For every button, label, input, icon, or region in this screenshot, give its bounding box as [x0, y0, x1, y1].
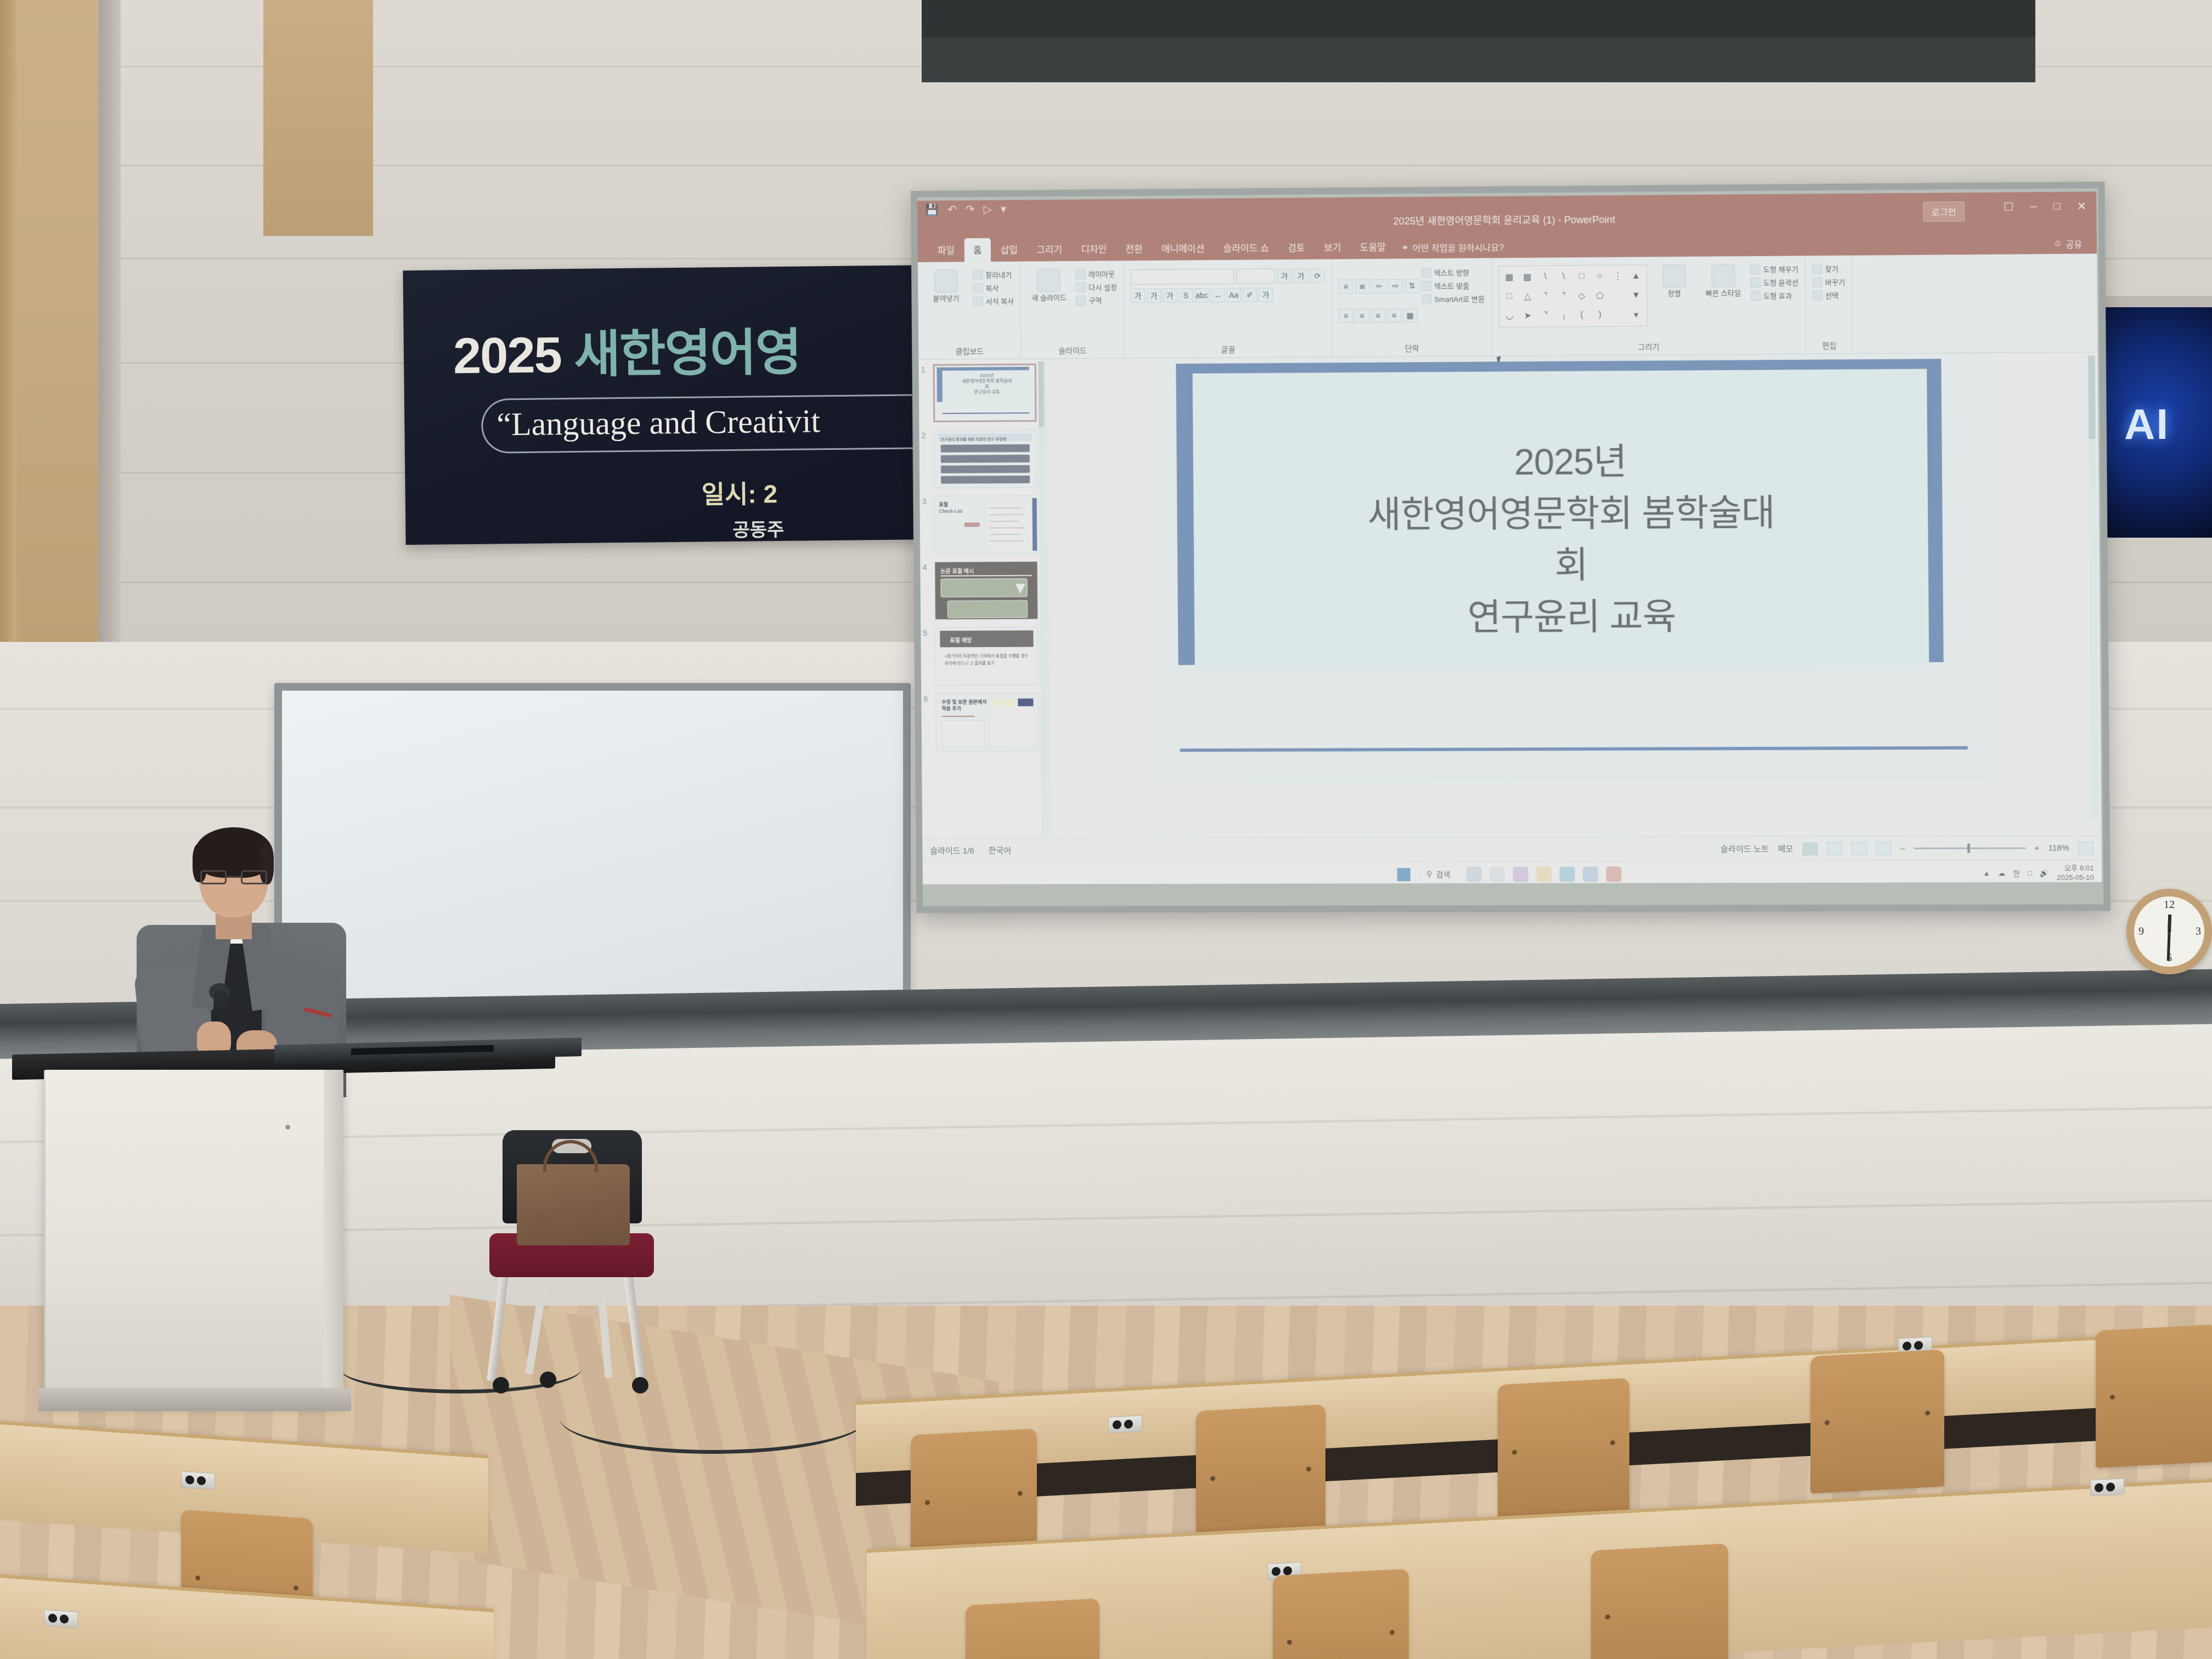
- presenter-glasses: [200, 870, 267, 884]
- wall-clock: 12 3 6 9: [2126, 889, 2212, 974]
- projection-frame: [911, 182, 2111, 913]
- leather-tote-bag: [517, 1164, 630, 1245]
- auditorium-seat[interactable]: [1498, 1378, 1629, 1522]
- podium-knob: [285, 1125, 290, 1130]
- podium: [44, 1070, 343, 1404]
- ceiling-recess-shadow: [922, 0, 2035, 37]
- desk-outlet[interactable]: [181, 1471, 215, 1489]
- wood-panel-upper: [263, 0, 373, 236]
- side-display-text: AI: [2124, 399, 2169, 449]
- side-display: AI: [2095, 307, 2212, 538]
- auditorium-seat[interactable]: [1273, 1569, 1409, 1659]
- desk-outlet[interactable]: [2090, 1478, 2124, 1496]
- conference-banner: 2025 새한영어영 “Language and Creativit 일시: 2…: [403, 265, 949, 545]
- podium-edge: [324, 1070, 343, 1404]
- banner-title: 2025 새한영어영: [453, 312, 801, 388]
- banner-quote: “Language and Creativit: [496, 402, 820, 443]
- banner-host: 공동주: [732, 515, 784, 542]
- banner-date: 일시: 2: [701, 474, 777, 511]
- desk-outlet[interactable]: [1108, 1415, 1142, 1434]
- rolling-chair: [483, 1130, 669, 1404]
- desk-outlet[interactable]: [44, 1610, 78, 1628]
- auditorium-seat[interactable]: [1591, 1543, 1728, 1659]
- auditorium-seat[interactable]: [1810, 1350, 1944, 1494]
- auditorium-seat[interactable]: [966, 1599, 1099, 1659]
- projection-screen: 💾 ↶ ↷ ▷ ▾ 2025년 새한영어영문학회 윤리교육 (1) - Powe…: [911, 182, 2111, 913]
- banner-org: 새한영어영: [574, 325, 801, 383]
- auditorium-seat[interactable]: [2096, 1324, 2212, 1468]
- clock-hour-hand: [2168, 915, 2171, 933]
- podium-seam: [44, 1070, 46, 1404]
- podium-base: [38, 1388, 351, 1411]
- banner-year: 2025: [453, 327, 562, 384]
